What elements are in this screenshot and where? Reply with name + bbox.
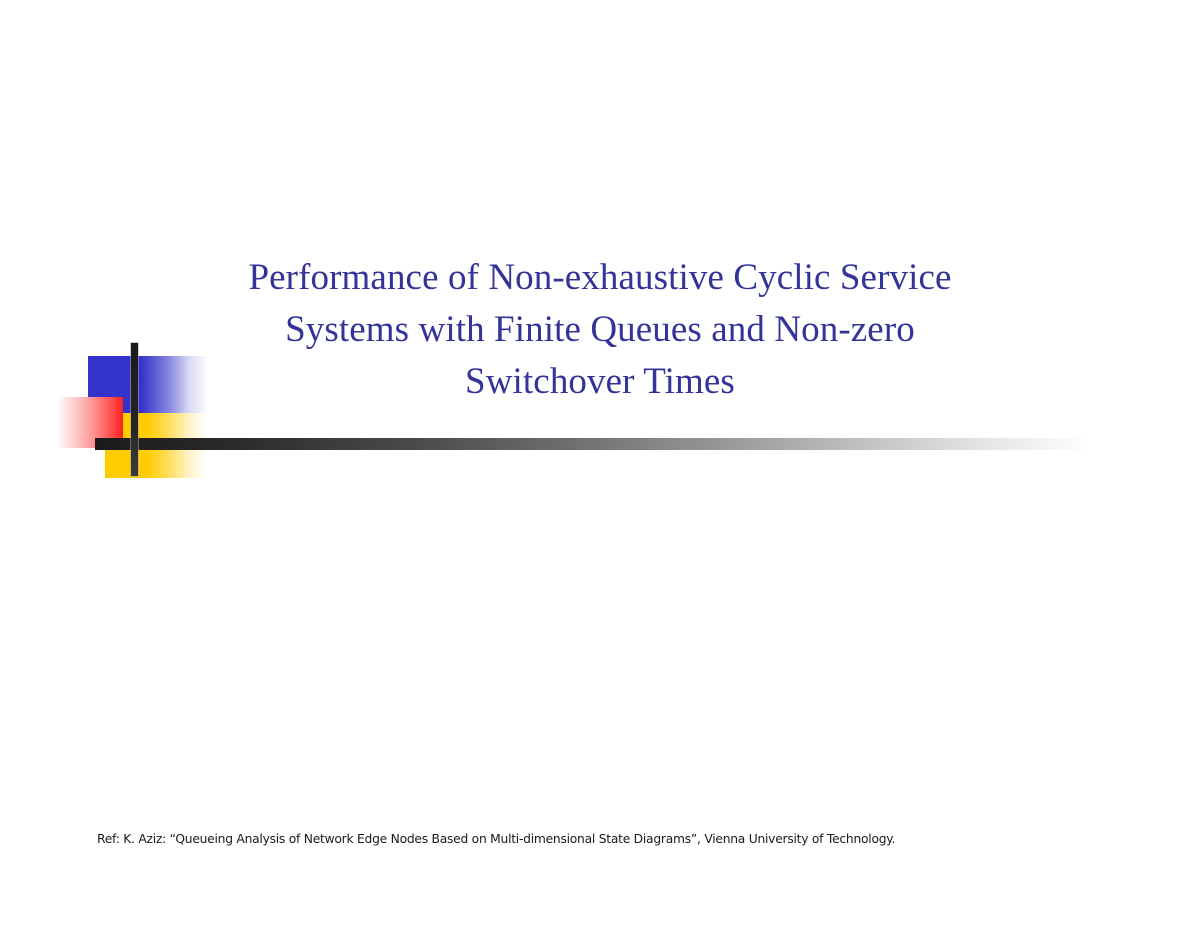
page-title: Performance of Non-exhaustive Cyclic Ser… <box>150 252 1050 408</box>
red-square-decoration <box>57 397 123 448</box>
title-line-2: Systems with Finite Queues and Non-zero <box>150 304 1050 356</box>
reference-citation: Ref: K. Aziz: “Queueing Analysis of Netw… <box>97 831 895 847</box>
horizontal-rule-decoration <box>95 438 1090 450</box>
vertical-rule-decoration <box>131 343 138 476</box>
title-line-3: Switchover Times <box>150 356 1050 408</box>
title-slide: Performance of Non-exhaustive Cyclic Ser… <box>0 0 1200 927</box>
title-line-1: Performance of Non-exhaustive Cyclic Ser… <box>150 252 1050 304</box>
yellow-square-decoration <box>105 413 205 478</box>
mondrian-accent-graphic <box>0 0 1200 927</box>
